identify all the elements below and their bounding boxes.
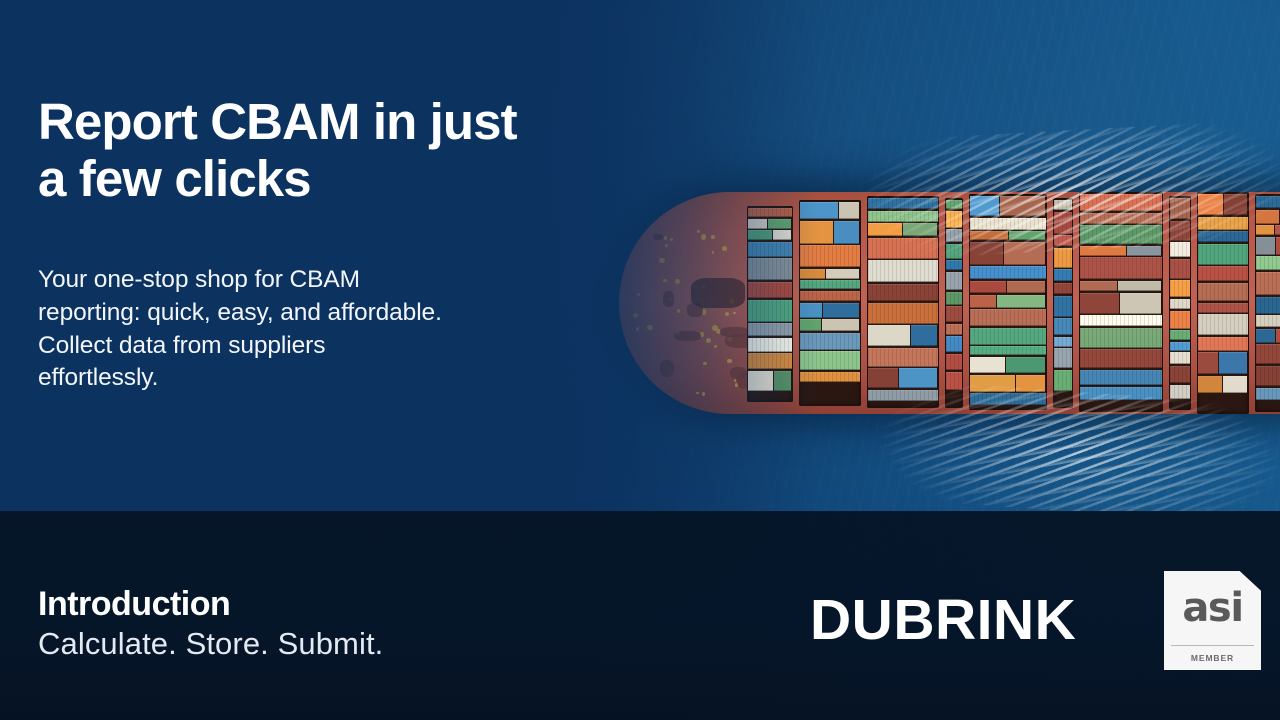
slide-headline: Report CBAM in just a few clicks (38, 93, 638, 207)
brand-logo-dubrink: DUBRINK (810, 592, 1076, 649)
section-title: Introduction (38, 585, 230, 624)
asi-member-label: MEMBER (1164, 646, 1261, 670)
section-tagline: Calculate. Store. Submit. (38, 626, 383, 662)
asi-wordmark: asi (1182, 588, 1242, 628)
asi-member-badge: asi MEMBER (1164, 571, 1261, 670)
presentation-slide: Report CBAM in just a few clicks Your on… (0, 0, 1280, 720)
asi-mark-area: asi (1164, 571, 1261, 645)
slide-subheadline: Your one-stop shop for CBAM reporting: q… (38, 264, 578, 395)
